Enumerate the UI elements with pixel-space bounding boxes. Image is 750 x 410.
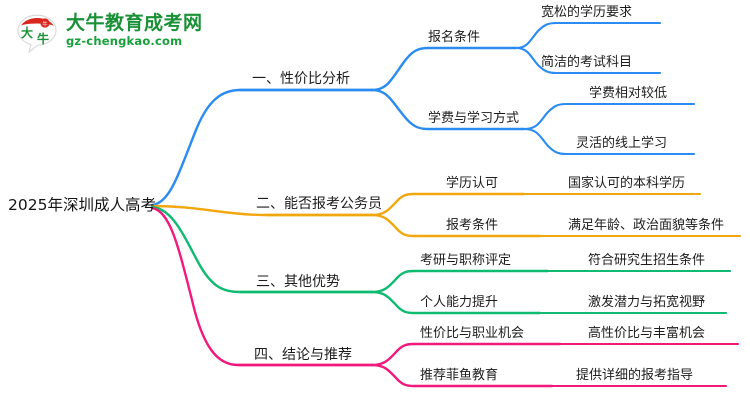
branch-node-4[interactable]: 四、结论与推荐 — [254, 348, 352, 362]
branch-2-to-child-1-line — [372, 194, 524, 215]
branch-4-to-child-1-line — [372, 344, 560, 365]
branch-1-child-1[interactable]: 报名条件 — [428, 31, 480, 44]
branch-1-child-1-leaf-1[interactable]: 宽松的学历要求 — [541, 6, 632, 19]
branch-1-child-2-leaf-2[interactable]: 灵活的线上学习 — [576, 137, 667, 150]
root-to-branch-1-line — [152, 90, 372, 205]
child-1-2-to-leaf-1-line — [524, 104, 694, 129]
branch-1-child-2[interactable]: 学费与学习方式 — [428, 112, 519, 125]
mindmap-canvas: 大 牛 牛 大牛教育成考网 gz-chengkao.com — [0, 0, 750, 410]
branch-node-2[interactable]: 二、能否报考公务员 — [256, 197, 382, 211]
branch-3-child-2[interactable]: 个人能力提升 — [420, 296, 498, 309]
branch-2-child-1[interactable]: 学历认可 — [446, 177, 498, 190]
branch-3-child-2-leaf-1[interactable]: 激发潜力与拓宽视野 — [588, 296, 705, 309]
branch-2-child-1-leaf-1[interactable]: 国家认可的本科学历 — [568, 177, 685, 190]
branch-1-child-1-leaf-2[interactable]: 简洁的考试科目 — [541, 56, 632, 69]
branch-3-to-child-1-line — [372, 271, 548, 292]
branch-4-child-2-leaf-1[interactable]: 提供详细的报考指导 — [576, 369, 693, 382]
branch-1-to-child-1-line — [372, 48, 516, 90]
branch-3-child-1[interactable]: 考研与职称评定 — [420, 254, 511, 267]
branch-2-child-2-leaf-1[interactable]: 满足年龄、政治面貌等条件 — [568, 219, 724, 232]
root-node-label[interactable]: 2025年深圳成人高考 — [8, 198, 156, 214]
branch-4-child-1-leaf-1[interactable]: 高性价比与丰富机会 — [588, 327, 705, 340]
branch-3-child-1-leaf-1[interactable]: 符合研究生招生条件 — [588, 254, 705, 267]
branch-node-1[interactable]: 一、性价比分析 — [252, 72, 350, 86]
branch-2-child-2[interactable]: 报考条件 — [446, 219, 498, 232]
child-1-1-to-leaf-1-line — [516, 23, 660, 48]
branch-4-child-1[interactable]: 性价比与职业机会 — [420, 327, 524, 340]
branch-4-child-2[interactable]: 推荐菲鱼教育 — [420, 369, 498, 382]
branch-1-child-2-leaf-1[interactable]: 学费相对较低 — [589, 87, 667, 100]
branch-node-3[interactable]: 三、其他优势 — [256, 275, 340, 289]
